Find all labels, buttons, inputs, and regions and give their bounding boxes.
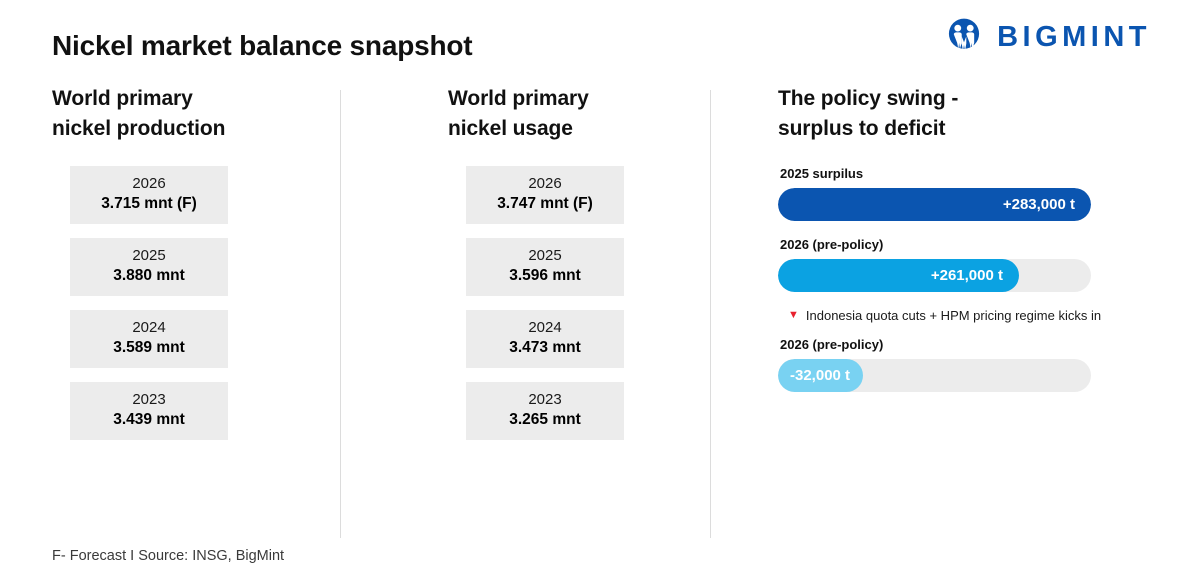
policy-bar-fill: -32,000 t [778, 359, 863, 392]
stat-card: 2023 3.439 mnt [70, 382, 228, 440]
page-title: Nickel market balance snapshot [52, 30, 472, 62]
column-title-usage: World primary nickel usage [448, 84, 708, 144]
stat-card-value: 3.473 mnt [509, 338, 581, 359]
brand-logo: BIGMINT [943, 16, 1151, 58]
policy-bar-fill: +261,000 t [778, 259, 1019, 292]
stat-card-year: 2024 [132, 319, 165, 338]
policy-bar-group: 2025 surpilus +283,000 t [778, 166, 1148, 221]
column-title-production-line2: nickel production [52, 117, 225, 140]
stat-card: 2023 3.265 mnt [466, 382, 624, 440]
bigmint-figures-circle-icon [943, 16, 985, 58]
policy-bar-track: -32,000 t [778, 359, 1091, 392]
policy-bar-value: +261,000 t [931, 267, 1003, 284]
policy-bar-group: 2026 (pre-policy) +261,000 t [778, 237, 1148, 292]
stat-card-value: 3.747 mnt (F) [497, 194, 593, 215]
column-title-policy-line1: The policy swing - [778, 87, 958, 110]
column-policy-swing: The policy swing - surplus to deficit 20… [778, 84, 1148, 408]
column-title-policy-line2: surplus to deficit [778, 117, 945, 140]
stat-card-value: 3.589 mnt [113, 338, 185, 359]
stat-card: 2025 3.596 mnt [466, 238, 624, 296]
column-production: World primary nickel production 2026 3.7… [52, 84, 337, 440]
stat-card: 2025 3.880 mnt [70, 238, 228, 296]
policy-bar-value: +283,000 t [1003, 196, 1075, 213]
column-title-usage-line1: World primary [448, 87, 589, 110]
stat-card-year: 2026 [528, 175, 561, 194]
stat-card-year: 2025 [528, 247, 561, 266]
brand-wordmark: BIGMINT [997, 23, 1151, 52]
column-usage: World primary nickel usage 2026 3.747 mn… [448, 84, 708, 440]
page-header: Nickel market balance snapshot BIGMINT [0, 0, 1183, 78]
stat-card: 2026 3.747 mnt (F) [466, 166, 624, 224]
stat-card: 2024 3.473 mnt [466, 310, 624, 368]
policy-bar-label: 2026 (pre-policy) [780, 337, 1148, 352]
production-card-list: 2026 3.715 mnt (F) 2025 3.880 mnt 2024 3… [52, 166, 337, 440]
policy-bar-track: +283,000 t [778, 188, 1091, 221]
stat-card-value: 3.596 mnt [509, 266, 581, 287]
stat-card-year: 2023 [132, 391, 165, 410]
policy-note-text: Indonesia quota cuts + HPM pricing regim… [806, 308, 1101, 323]
column-title-policy: The policy swing - surplus to deficit [778, 84, 1148, 144]
column-title-production: World primary nickel production [52, 84, 337, 144]
policy-bar-label: 2025 surpilus [780, 166, 1148, 181]
policy-bar-group: 2026 (pre-policy) -32,000 t [778, 337, 1148, 392]
stat-card-value: 3.265 mnt [509, 410, 581, 431]
policy-bar-fill: +283,000 t [778, 188, 1091, 221]
stat-card-value: 3.880 mnt [113, 266, 185, 287]
policy-note: ▼ Indonesia quota cuts + HPM pricing reg… [788, 308, 1148, 323]
stat-card-year: 2026 [132, 175, 165, 194]
stat-card: 2026 3.715 mnt (F) [70, 166, 228, 224]
policy-bar-track: +261,000 t [778, 259, 1091, 292]
down-triangle-icon: ▼ [788, 310, 799, 321]
stat-card-year: 2025 [132, 247, 165, 266]
policy-bar-list: 2025 surpilus +283,000 t 2026 (pre-polic… [778, 166, 1148, 392]
stat-card: 2024 3.589 mnt [70, 310, 228, 368]
stat-card-value: 3.715 mnt (F) [101, 194, 197, 215]
content-columns: World primary nickel production 2026 3.7… [0, 84, 1183, 539]
stat-card-year: 2024 [528, 319, 561, 338]
usage-card-list: 2026 3.747 mnt (F) 2025 3.596 mnt 2024 3… [448, 166, 708, 440]
policy-bar-label: 2026 (pre-policy) [780, 237, 1148, 252]
stat-card-year: 2023 [528, 391, 561, 410]
source-footnote: F- Forecast I Source: INSG, BigMint [52, 548, 284, 564]
column-title-production-line1: World primary [52, 87, 193, 110]
column-title-usage-line2: nickel usage [448, 117, 573, 140]
stat-card-value: 3.439 mnt [113, 410, 185, 431]
column-divider-1 [340, 90, 341, 538]
policy-bar-value: -32,000 t [790, 367, 850, 384]
column-divider-2 [710, 90, 711, 538]
